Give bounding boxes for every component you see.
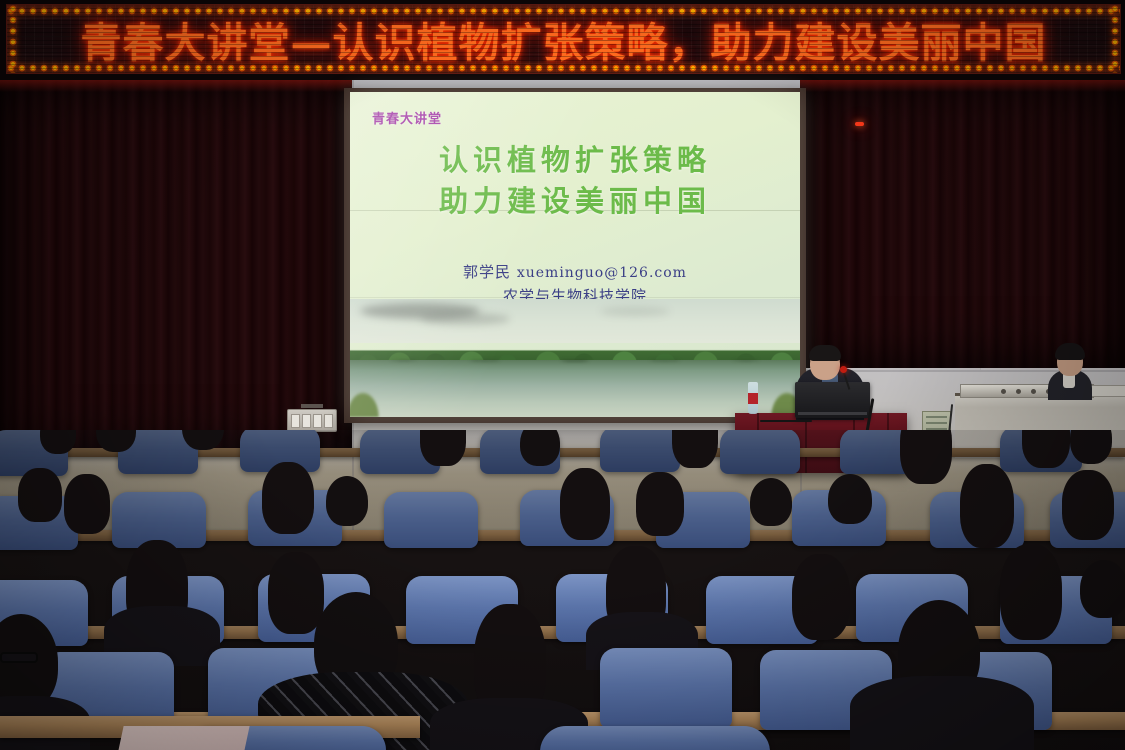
audience-head: [1080, 560, 1125, 618]
audience-head: [672, 430, 718, 468]
audience-head: [560, 468, 610, 540]
audience-head: [900, 430, 952, 484]
audience-head: [64, 474, 110, 534]
presenter-hair: [809, 345, 841, 361]
lecture-hall-photo: 青春大讲堂—认识植物扩张策略，助力建设美丽中国 青春大讲堂 认识植物扩张策略 助…: [0, 0, 1125, 750]
switch-key[interactable]: [291, 414, 300, 428]
audience-head: [750, 478, 792, 526]
slide-title-line-1: 认识植物扩张策略: [350, 140, 800, 181]
audience-head: [1070, 430, 1112, 464]
audience-head: [1000, 544, 1062, 640]
seat[interactable]: [540, 726, 770, 750]
audience-head: [326, 476, 368, 526]
seat[interactable]: [600, 430, 680, 472]
audience-head: [636, 472, 684, 536]
water-bottle: [748, 382, 758, 414]
seat[interactable]: [384, 492, 478, 548]
seat[interactable]: [720, 430, 800, 474]
audience-head: [18, 468, 62, 522]
slide-author-name: 郭学民: [463, 263, 511, 281]
slide-kicker: 青春大讲堂: [372, 108, 442, 127]
microphone-icon: [840, 366, 847, 373]
audience-head: [420, 430, 466, 466]
indicator-light: [855, 122, 864, 126]
audience-head: [828, 474, 872, 524]
slide-author-email: xueminguo@126.com: [517, 265, 687, 281]
switch-key[interactable]: [313, 414, 322, 428]
audience-area: [0, 430, 1125, 750]
table-cable: [760, 420, 812, 422]
projection-screen: 青春大讲堂 认识植物扩张策略 助力建设美丽中国 郭学民 xueminguo@12…: [350, 92, 800, 417]
audience-head: [792, 554, 850, 640]
audience-head: [960, 464, 1014, 548]
switch-key[interactable]: [324, 414, 333, 428]
audience-head: [262, 462, 314, 534]
led-banner-text: 青春大讲堂—认识植物扩张策略，助力建设美丽中国: [7, 9, 1120, 69]
audience-head: [268, 552, 324, 634]
slide-title: 认识植物扩张策略 助力建设美丽中国: [350, 140, 800, 222]
switch-key[interactable]: [302, 414, 311, 428]
led-banner: 青春大讲堂—认识植物扩张策略，助力建设美丽中国: [0, 0, 1125, 80]
slide-title-line-2: 助力建设美丽中国: [350, 181, 800, 222]
audience-head: [1022, 430, 1070, 468]
audience-shoulders: [850, 676, 1034, 750]
slide-landscape-photo: [350, 299, 800, 417]
audience-head: [1062, 470, 1114, 540]
laptop[interactable]: [795, 382, 870, 418]
stage-curtain-left: [0, 78, 352, 456]
paper-sheet: [116, 726, 249, 750]
audience-head: [520, 430, 560, 466]
operator-hair: [1055, 343, 1085, 360]
eyeglasses: [0, 652, 38, 663]
seat[interactable]: [600, 648, 732, 728]
led-panel: 青春大讲堂—认识植物扩张策略，助力建设美丽中国: [6, 4, 1121, 74]
wall-switch-plate[interactable]: [287, 409, 337, 432]
stage-curtain-right: [800, 78, 1125, 368]
switch-plate-label: [301, 404, 323, 408]
